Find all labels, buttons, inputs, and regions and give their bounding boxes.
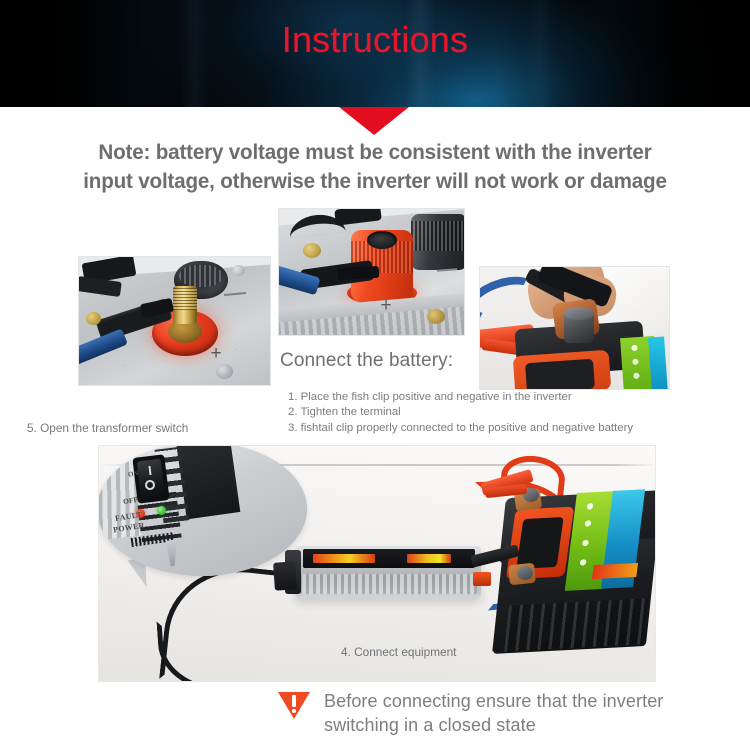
battery-handle-recess <box>516 517 563 569</box>
list-item: 3. fishtail clip properly connected to t… <box>288 421 708 436</box>
warning-banner: Before connecting ensure that the invert… <box>278 689 748 737</box>
list-item: 1. Place the fish clip positive and nega… <box>288 390 708 405</box>
caption-connect-equipment: 4. Connect equipment <box>341 645 456 659</box>
brass-screw-2 <box>427 309 445 324</box>
connect-steps-list: 1. Place the fish clip positive and nega… <box>288 390 708 436</box>
connect-battery-heading: Connect the battery: <box>280 350 453 372</box>
page-title: Instructions <box>0 19 750 61</box>
battery-ribs <box>504 598 648 651</box>
inverter-red-terminal <box>473 572 491 586</box>
battery-brand-label <box>592 563 638 579</box>
black-post-knurling <box>411 221 465 251</box>
battery-label-icons <box>627 343 645 384</box>
warning-triangle-icon <box>278 692 310 720</box>
caption-open-transformer-switch: 5. Open the transformer switch <box>27 421 188 435</box>
battery-terminal-top <box>564 307 594 320</box>
fan-slots <box>179 265 223 287</box>
plus-marking-icon: + <box>207 345 225 363</box>
power-led-indicator <box>157 506 166 515</box>
plus-marking-icon: + <box>377 297 395 315</box>
switch-label-on: ON <box>127 469 139 479</box>
triangle-down-icon <box>339 107 409 135</box>
note-line-2: input voltage, otherwise the inverter wi… <box>15 167 735 196</box>
warning-text: Before connecting ensure that the invert… <box>324 689 663 737</box>
note-text: Note: battery voltage must be consistent… <box>15 138 735 196</box>
inverter-heatsink-fins <box>299 574 477 594</box>
inverter-led-display-right <box>407 554 451 563</box>
note-line-1: Note: battery voltage must be consistent… <box>98 140 651 164</box>
post-threads <box>173 288 197 310</box>
hand-attaching-clip-photo <box>479 266 670 390</box>
brass-screw <box>86 312 101 325</box>
red-post-hole <box>367 231 397 249</box>
warning-exclamation-dot <box>292 709 296 713</box>
steel-screw <box>216 364 233 379</box>
battery-negative-post <box>517 566 533 580</box>
brass-screw <box>303 243 321 258</box>
red-binding-post-photo: + <box>278 208 465 336</box>
list-item: 2. Tighten the terminal <box>288 405 708 420</box>
inverter-terminal-closeup-photo: + <box>78 256 271 386</box>
clip-jaw <box>337 266 380 280</box>
warning-line-1: Before connecting ensure that the invert… <box>324 691 663 711</box>
transformer-switch-inset: ON OFF FAULT POWER <box>98 445 307 576</box>
inverter-led-display-left <box>313 554 375 563</box>
warning-line-2: switching in a closed state <box>324 713 663 737</box>
battery-handle-recess <box>525 359 595 390</box>
steel-screw-2 <box>232 265 245 276</box>
black-power-cable-2 <box>156 615 261 682</box>
warning-exclamation-bar <box>292 695 296 707</box>
